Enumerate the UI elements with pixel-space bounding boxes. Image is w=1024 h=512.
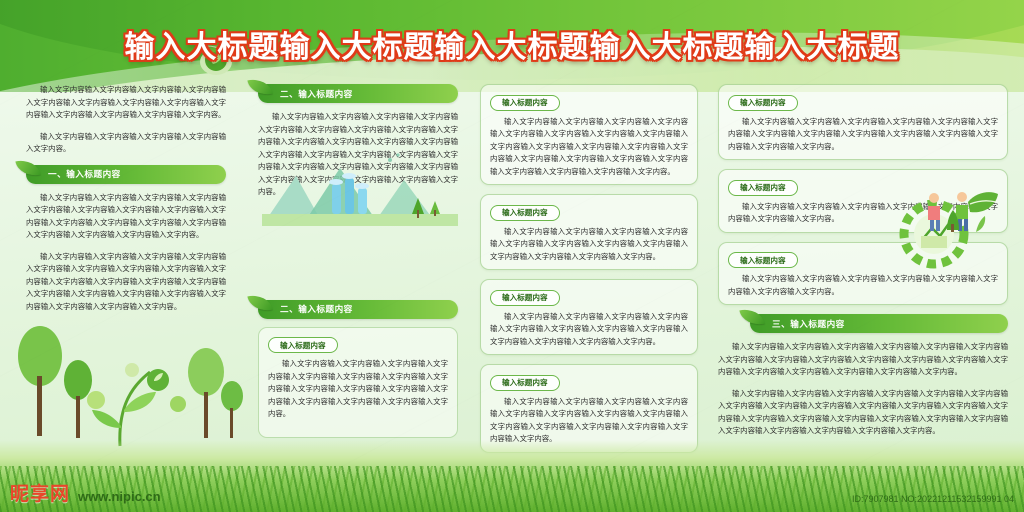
page-title: 输入大标题输入大标题输入大标题输入大标题输入大标题 <box>0 22 1024 66</box>
col1-intro-p1: 输入文字内容输入文字内容输入文字内容输入文字内容输入文字内容输入文字内容输入文字… <box>26 84 226 122</box>
info-box-title: 输入标题内容 <box>490 95 560 111</box>
leaf-icon <box>739 306 764 328</box>
col2-heading1-text: 二、输入标题内容 <box>280 88 353 100</box>
column-three: 输入标题内容 输入文字内容输入文字内容输入文字内容输入文字内容输入文字内容输入文… <box>480 84 698 462</box>
main-title-text: 输入大标题输入大标题输入大标题输入大标题输入大标题 <box>0 22 1024 66</box>
col2-card: 输入标题内容 输入文字内容输入文字内容输入文字内容输入文字内容输入文字内容输入文… <box>258 327 458 438</box>
col1-intro-p2: 输入文字内容输入文字内容输入文字内容输入文字内容输入文字内容。 <box>26 131 226 156</box>
info-box: 输入标题内容 输入文字内容输入文字内容输入文字内容输入文字内容输入文字内容输入文… <box>480 279 698 355</box>
info-box-title: 输入标题内容 <box>728 180 798 196</box>
info-box-body: 输入文字内容输入文字内容输入文字内容输入文字内容输入文字内容输入文字内容输入文字… <box>490 226 688 264</box>
col1-body-p1: 输入文字内容输入文字内容输入文字内容输入文字内容输入文字内容输入文字内容输入文字… <box>26 192 226 242</box>
col2-section-heading-2: 二、输入标题内容 <box>258 300 458 319</box>
info-box-body: 输入文字内容输入文字内容输入文字内容输入文字内容输入文字内容输入文字内容输入文字… <box>728 116 998 154</box>
poster-root: 输入大标题输入大标题输入大标题输入大标题输入大标题 输入文字内容输入文字内容输入… <box>0 0 1024 512</box>
info-box-title: 输入标题内容 <box>490 290 560 306</box>
brand-logo: 昵享网 <box>10 479 70 506</box>
col4-section-heading: 三、输入标题内容 <box>750 314 1008 333</box>
footer-brand: 昵享网 www.nipic.cn <box>10 479 161 506</box>
mountain-factory-icon <box>262 140 458 226</box>
info-box-title: 输入标题内容 <box>490 375 560 391</box>
info-box-title: 输入标题内容 <box>490 205 560 221</box>
info-box-title: 输入标题内容 <box>728 252 798 268</box>
info-box-body: 输入文字内容输入文字内容输入文字内容输入文字内容输入文字内容输入文字内容输入文字… <box>490 396 688 446</box>
column-two: 二、输入标题内容 输入文字内容输入文字内容输入文字内容输入文字内容输入文字内容输… <box>258 84 458 447</box>
leaf-icon <box>15 156 40 178</box>
tree-illustration-icon <box>0 306 250 456</box>
footer-id-text: ID:7907981 NO:20221211532159991 04 <box>852 494 1014 504</box>
info-box-body: 输入文字内容输入文字内容输入文字内容输入文字内容输入文字内容输入文字内容输入文字… <box>490 311 688 349</box>
col4-body-p1: 输入文字内容输入文字内容输入文字内容输入文字内容输入文字内容输入文字内容输入文字… <box>718 341 1008 379</box>
info-box-body: 输入文字内容输入文字内容输入文字内容输入文字内容输入文字内容输入文字内容输入文字… <box>490 116 688 179</box>
info-box: 输入标题内容 输入文字内容输入文字内容输入文字内容输入文字内容输入文字内容输入文… <box>480 84 698 185</box>
col2-heading2-text: 二、输入标题内容 <box>280 303 353 315</box>
column-one: 输入文字内容输入文字内容输入文字内容输入文字内容输入文字内容输入文字内容输入文字… <box>26 84 226 322</box>
people-planting-icon <box>920 188 990 234</box>
col1-section-heading: 一、输入标题内容 <box>26 165 226 184</box>
col2-card-body: 输入文字内容输入文字内容输入文字内容输入文字内容输入文字内容输入文字内容输入文字… <box>268 358 448 421</box>
info-box: 输入标题内容 输入文字内容输入文字内容输入文字内容输入文字内容输入文字内容输入文… <box>718 84 1008 160</box>
brand-url[interactable]: www.nipic.cn <box>78 489 161 506</box>
col2-section-heading-1: 二、输入标题内容 <box>258 84 458 103</box>
col4-heading-text: 三、输入标题内容 <box>772 318 845 330</box>
col4-body-p2: 输入文字内容输入文字内容输入文字内容输入文字内容输入文字内容输入文字内容输入文字… <box>718 388 1008 438</box>
col1-body-p2: 输入文字内容输入文字内容输入文字内容输入文字内容输入文字内容输入文字内容输入文字… <box>26 251 226 314</box>
info-box: 输入标题内容 输入文字内容输入文字内容输入文字内容输入文字内容输入文字内容输入文… <box>480 194 698 270</box>
col1-heading-text: 一、输入标题内容 <box>48 168 121 180</box>
col2-card-title: 输入标题内容 <box>268 337 338 353</box>
info-box-title: 输入标题内容 <box>728 95 798 111</box>
